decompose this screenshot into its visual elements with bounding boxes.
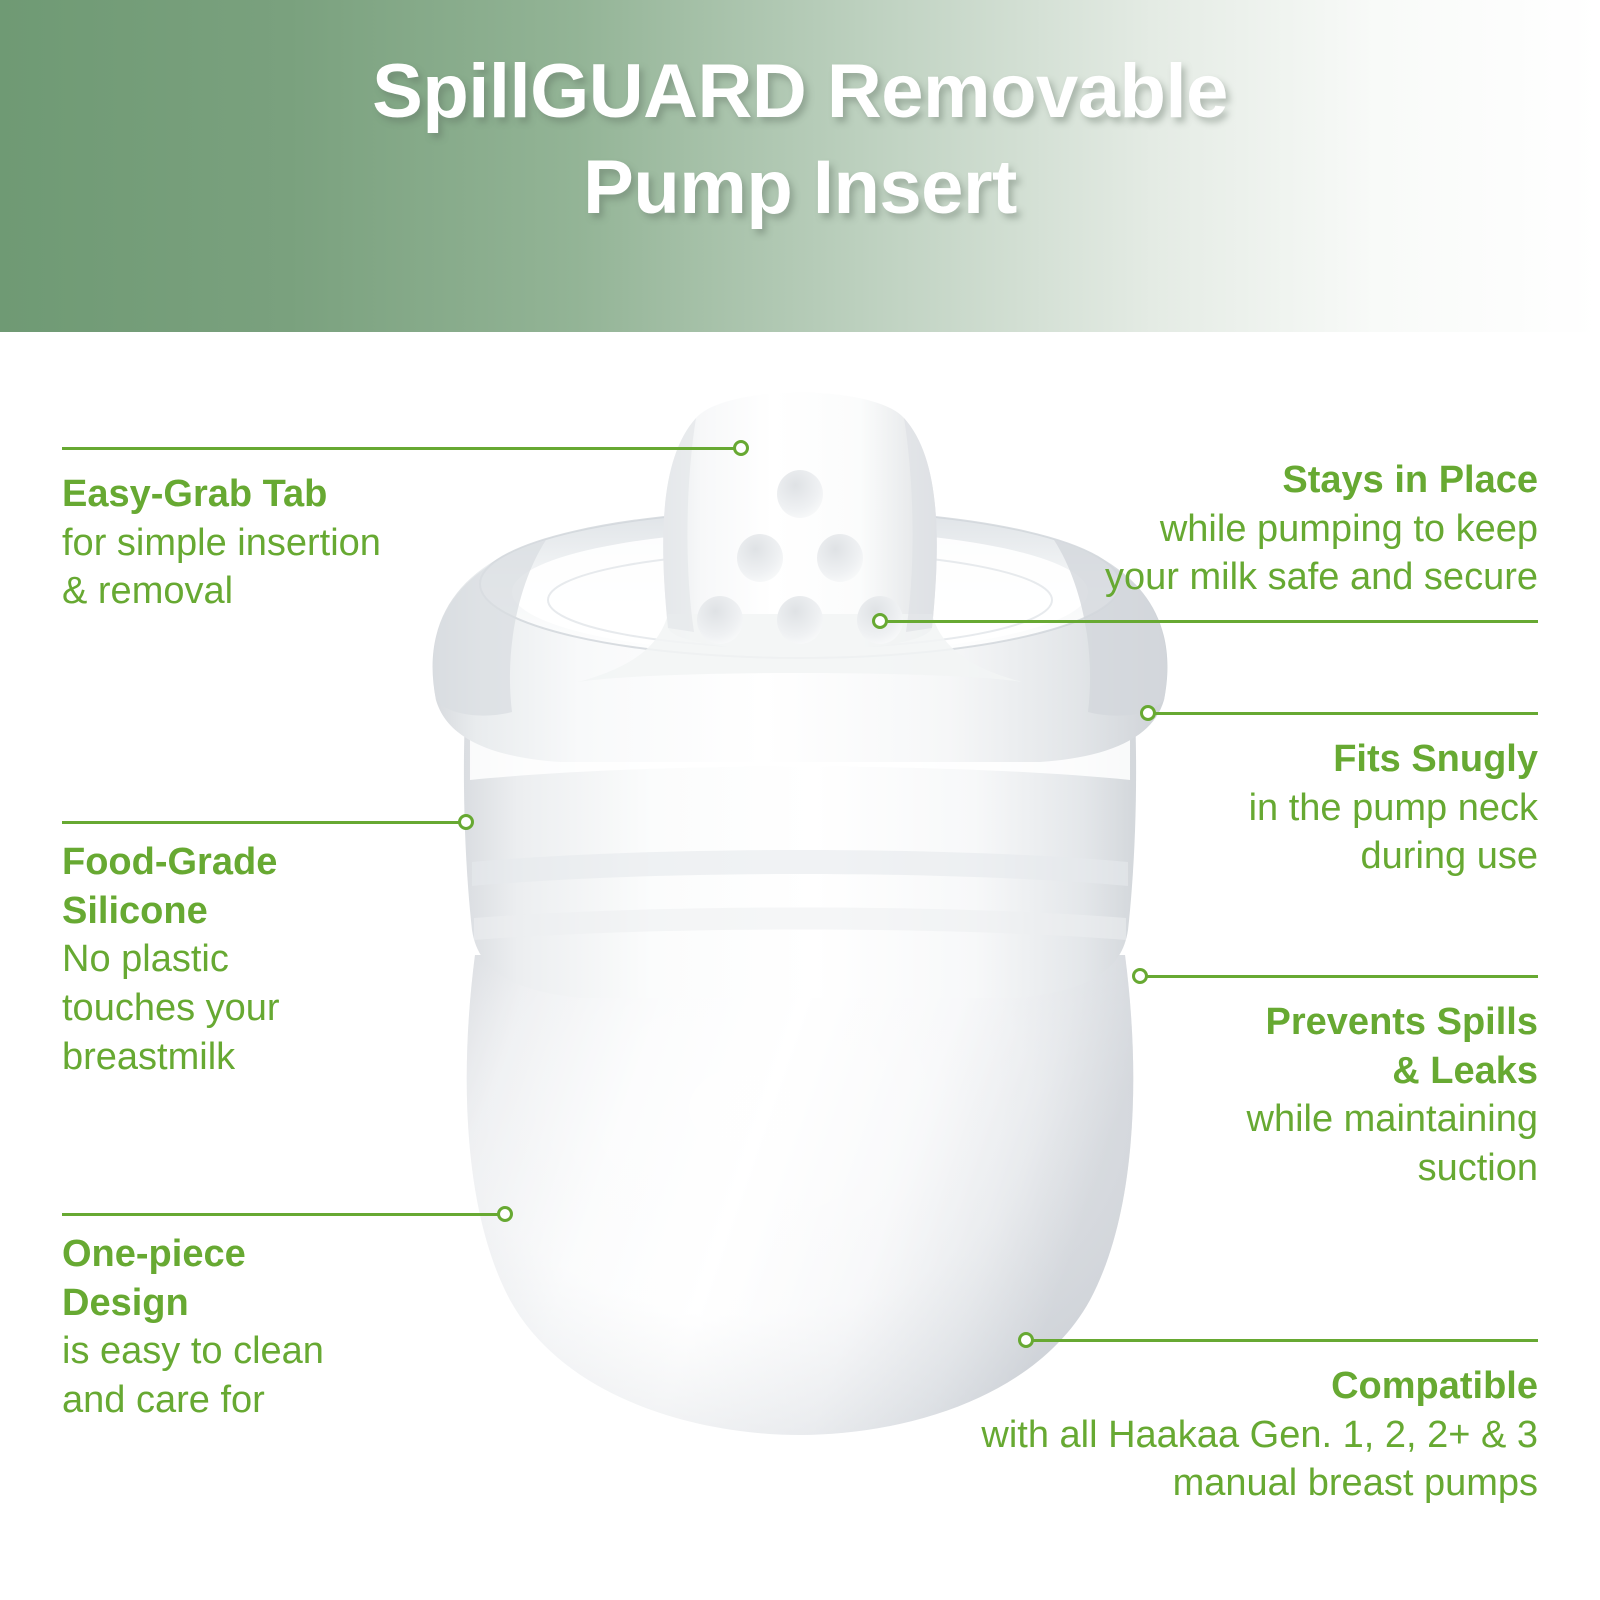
leader-line-stays-in-place [886, 620, 1538, 623]
leader-dot-one-piece-design [497, 1206, 513, 1222]
callout-body: for simple insertion & removal [62, 519, 622, 616]
leader-dot-easy-grab-tab [733, 440, 749, 456]
tab-dimple-icon [697, 596, 743, 644]
callout-heading: Easy-Grab Tab [62, 470, 622, 519]
leader-line-easy-grab-tab [62, 447, 748, 450]
page-title: SpillGUARD Removable Pump Insert [0, 44, 1600, 236]
callout-easy-grab-tab: Easy-Grab Tab for simple insertion & rem… [62, 470, 622, 616]
leader-line-compatible [1032, 1339, 1538, 1342]
callout-fits-snugly: Fits Snugly in the pump neck during use [838, 735, 1538, 881]
callout-body: while maintaining suction [838, 1095, 1538, 1192]
callout-compatible: Compatible with all Haakaa Gen. 1, 2, 2+… [758, 1362, 1538, 1508]
leader-dot-food-grade-silicone [458, 814, 474, 830]
callout-body: No plastic touches your breastmilk [62, 935, 622, 1081]
infographic-canvas: SpillGUARD Removable Pump Insert [0, 0, 1600, 1600]
callout-body: while pumping to keep your milk safe and… [838, 505, 1538, 602]
callout-heading: Stays in Place [838, 456, 1538, 505]
leader-line-prevents-spills-leaks [1146, 975, 1538, 978]
callout-heading: Prevents Spills & Leaks [838, 998, 1538, 1095]
tab-dimple-icon [777, 470, 823, 518]
leader-line-fits-snugly [1154, 712, 1538, 715]
header-banner: SpillGUARD Removable Pump Insert [0, 0, 1600, 332]
callout-heading: Compatible [758, 1362, 1538, 1411]
callout-heading: Food-Grade Silicone [62, 838, 622, 935]
callout-stays-in-place: Stays in Place while pumping to keep you… [838, 456, 1538, 602]
leader-line-one-piece-design [62, 1213, 512, 1216]
callout-one-piece-design: One-piece Design is easy to clean and ca… [62, 1230, 622, 1425]
callout-body: in the pump neck during use [838, 784, 1538, 881]
tab-dimple-icon [737, 534, 783, 582]
callout-body: is easy to clean and care for [62, 1327, 622, 1424]
callout-heading: Fits Snugly [838, 735, 1538, 784]
leader-line-food-grade-silicone [62, 821, 472, 824]
callout-body: with all Haakaa Gen. 1, 2, 2+ & 3 manual… [758, 1411, 1538, 1508]
callout-heading: One-piece Design [62, 1230, 622, 1327]
callout-food-grade-silicone: Food-Grade Silicone No plastic touches y… [62, 838, 622, 1081]
callout-prevents-spills-leaks: Prevents Spills & Leaks while maintainin… [838, 998, 1538, 1193]
tab-dimple-icon [777, 596, 823, 644]
